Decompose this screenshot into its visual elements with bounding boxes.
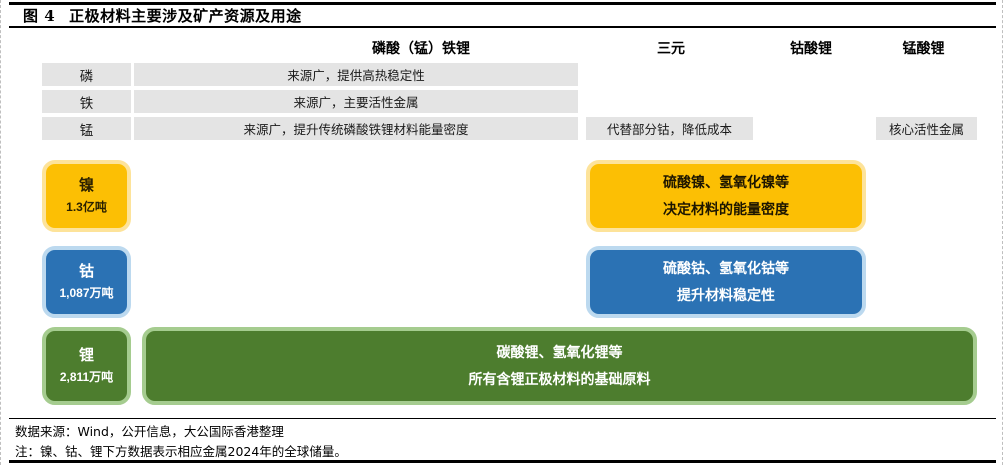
description-nickel-line2: 决定材料的能量密度 <box>663 196 789 223</box>
table-row-element-label: 锰 <box>42 117 131 140</box>
table-row-element-label: 铁 <box>42 90 131 113</box>
table-cell-nmc: 代替部分钴，降低成本 <box>586 117 753 140</box>
description-lithium-line1: 碳酸锂、氢氧化锂等 <box>497 339 623 366</box>
resource-name-lithium: 锂 <box>79 347 94 366</box>
description-cobalt-line1: 硫酸钴、氢氧化钴等 <box>663 255 789 282</box>
resource-name-nickel: 镍 <box>79 177 94 196</box>
description-box-lithium: 碳酸锂、氢氧化锂等 所有含锂正极材料的基础原料 <box>142 327 977 405</box>
column-header-nmc: 三元 <box>601 38 741 58</box>
table-cell-lmo: 核心活性金属 <box>876 117 977 140</box>
footer-source: 数据来源：Wind，公开信息，大公国际香港整理 <box>15 422 996 442</box>
resource-chip-lithium: 锂 2,811万吨 <box>42 327 131 405</box>
description-lithium-line2: 所有含锂正极材料的基础原料 <box>469 366 651 393</box>
figure-title-text: 正极材料主要涉及矿产资源及用途 <box>69 7 302 25</box>
figure-number: 图 4 <box>23 7 55 25</box>
resource-reserve-cobalt: 1,087万吨 <box>59 286 113 301</box>
description-nickel-line1: 硫酸镍、氢氧化镍等 <box>663 169 789 196</box>
description-box-cobalt: 硫酸钴、氢氧化钴等 提升材料稳定性 <box>586 246 866 318</box>
table-row-element-label: 磷 <box>42 63 131 86</box>
description-box-nickel: 硫酸镍、氢氧化镍等 决定材料的能量密度 <box>586 160 866 232</box>
resource-name-cobalt: 钴 <box>79 263 94 282</box>
resource-chip-cobalt: 钴 1,087万吨 <box>42 246 131 318</box>
description-cobalt-line2: 提升材料稳定性 <box>677 282 775 309</box>
figure-title-bar: 图 4正极材料主要涉及矿产资源及用途 <box>9 2 996 28</box>
footer-note: 注：镍、钴、锂下方数据表示相应金属2024年的全球储量。 <box>15 442 996 462</box>
figure-footer: 数据来源：Wind，公开信息，大公国际香港整理 注：镍、钴、锂下方数据表示相应金… <box>9 418 996 463</box>
table-cell-lfp: 来源广，提供高热稳定性 <box>134 63 578 86</box>
resource-reserve-lithium: 2,811万吨 <box>60 370 113 385</box>
column-header-lco: 钴酸锂 <box>761 38 861 58</box>
table-cell-lfp: 来源广，主要活性金属 <box>134 90 578 113</box>
resource-reserve-nickel: 1.3亿吨 <box>66 200 107 215</box>
table-cell-lfp: 来源广，提升传统磷酸铁锂材料能量密度 <box>134 117 578 140</box>
figure-container: 图 4正极材料主要涉及矿产资源及用途 磷酸（锰）铁锂 三元 钴酸锂 锰酸锂 磷 … <box>0 0 1003 465</box>
resource-chip-nickel: 镍 1.3亿吨 <box>42 160 131 232</box>
column-header-lfp: 磷酸（锰）铁锂 <box>266 38 576 58</box>
column-header-lmo: 锰酸锂 <box>871 38 976 58</box>
page-title: 图 4正极材料主要涉及矿产资源及用途 <box>9 5 302 26</box>
